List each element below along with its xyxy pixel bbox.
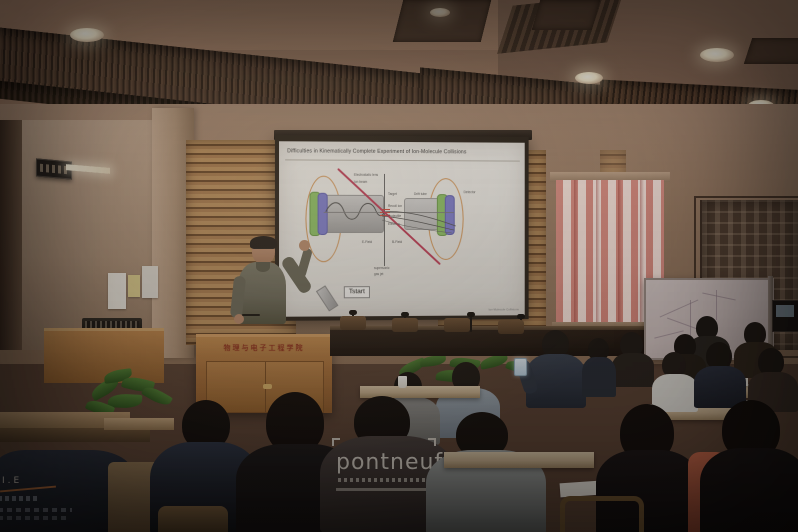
wall-notice xyxy=(142,266,158,298)
diagram-label: Electron xyxy=(388,222,400,226)
tstart-label: Tstart xyxy=(344,286,370,298)
diagram-label: Ion beam xyxy=(354,180,367,184)
diagram-label: Recoil ion xyxy=(388,204,402,208)
left-wall-recess xyxy=(0,120,160,350)
audience-member xyxy=(582,338,616,394)
diagram-label: Target xyxy=(388,192,397,196)
projection-screen[interactable]: Difficulties in Kinematically Complete E… xyxy=(279,141,525,317)
blind-fold xyxy=(596,180,600,326)
chair-back-foreground xyxy=(158,506,228,532)
downlight-icon xyxy=(430,8,450,17)
audience-member-photographing xyxy=(526,326,586,404)
diagram-label: B-Field xyxy=(392,240,402,244)
lecture-hall-photo: Difficulties in Kinematically Complete E… xyxy=(0,0,798,532)
diagram-label: supersonic xyxy=(374,266,389,270)
microphone-icon xyxy=(467,312,475,317)
downlight-icon xyxy=(700,48,734,62)
blind-fold xyxy=(574,180,578,326)
slide-footer: Ion-Molecule Collisions xyxy=(488,307,518,311)
slide-title: Difficulties in Kinematically Complete E… xyxy=(287,148,519,156)
audience-member xyxy=(652,352,698,408)
audience-member xyxy=(612,332,654,384)
step-edge xyxy=(104,418,174,430)
chair xyxy=(444,318,470,332)
podium-institution-label: 物理与电子工程学院 xyxy=(196,343,332,353)
step-riser xyxy=(0,428,150,442)
microphone-stand xyxy=(470,316,472,332)
desk xyxy=(444,452,594,468)
ceiling-vent xyxy=(744,38,798,64)
microphone-icon xyxy=(349,310,357,315)
audience-member-front-right xyxy=(700,400,798,532)
smartphone xyxy=(514,358,527,376)
chair xyxy=(340,316,366,330)
microphone-icon xyxy=(401,312,409,317)
slide-diagram: Tstart Electrostatic lens Ion beam Targe… xyxy=(279,161,525,316)
ceiling-vent xyxy=(532,0,601,30)
presenter-collar xyxy=(256,262,270,272)
downlight-icon xyxy=(70,28,104,42)
diagram-label: gas jet xyxy=(374,272,383,276)
paper-cup xyxy=(398,376,407,388)
laser-pointer xyxy=(242,314,260,316)
audience-member-front xyxy=(426,412,546,532)
mirror-element xyxy=(316,285,339,311)
presenter xyxy=(228,238,308,344)
presenter-hand xyxy=(299,240,310,251)
diagram-label: Projectile xyxy=(388,214,401,218)
microphone-icon xyxy=(517,314,525,319)
jacket-subtext xyxy=(338,478,430,482)
wall-notice xyxy=(108,273,126,309)
glasses-icon xyxy=(254,248,273,252)
audience-member xyxy=(694,342,746,404)
chair xyxy=(392,318,418,332)
podium-handle xyxy=(263,384,272,389)
diagram-label: Electrostatic lens xyxy=(354,173,378,178)
downlight-icon xyxy=(575,72,603,84)
diagram-label: Drift tube xyxy=(414,192,427,196)
blind-fold xyxy=(618,180,622,326)
jacket-logo-text: I.E xyxy=(2,476,22,486)
chair-back-foreground xyxy=(560,496,644,532)
left-wall-edge xyxy=(0,120,22,350)
audience-member xyxy=(748,348,798,408)
ceiling-vent xyxy=(393,0,491,42)
diagram-label: Detector xyxy=(464,190,476,194)
diagram-label: E-Field xyxy=(362,240,372,244)
paper-sheet xyxy=(560,481,601,498)
chair xyxy=(498,320,524,334)
wall-notice xyxy=(128,275,140,297)
